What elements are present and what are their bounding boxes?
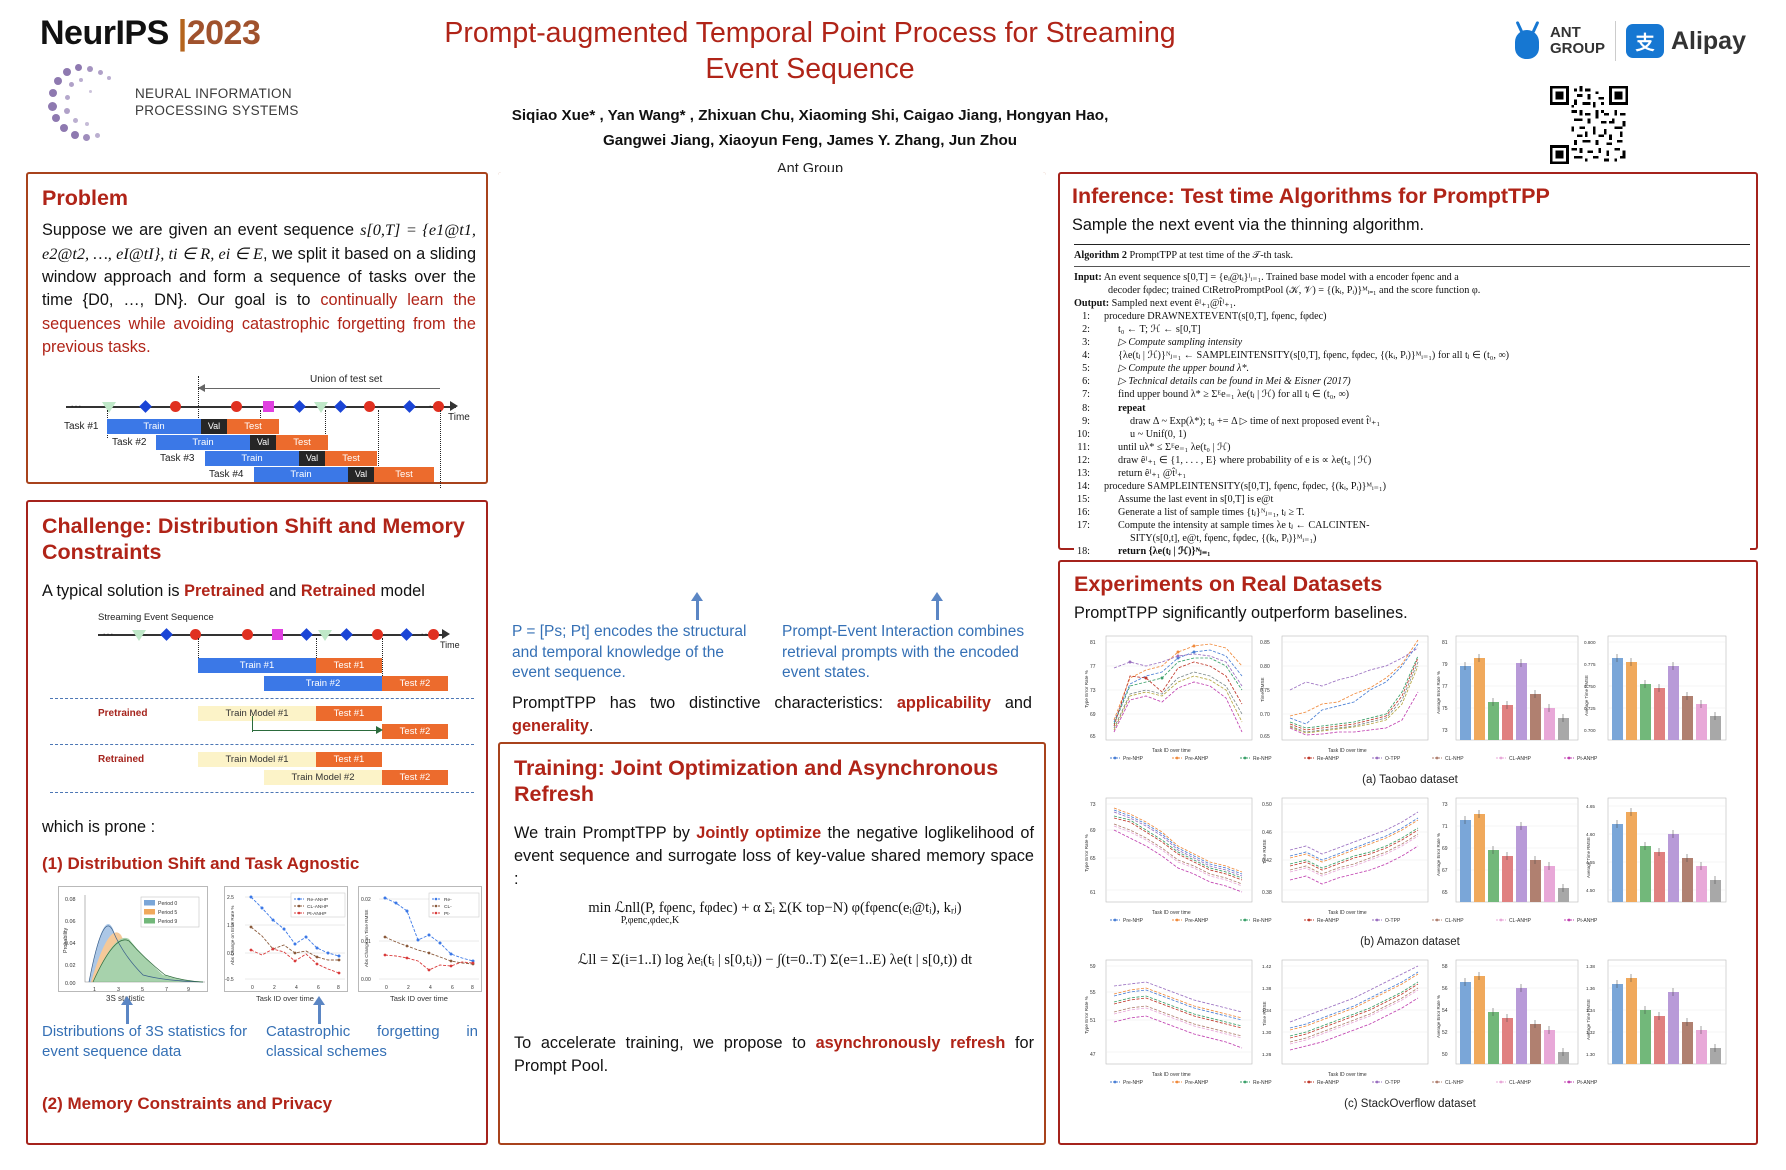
svg-text:73: 73	[1442, 802, 1448, 808]
kd-cap-arrow-right-head	[931, 592, 943, 601]
task1-train-bar: Train	[107, 419, 201, 434]
generality-term: generality	[512, 717, 589, 735]
svg-text:Re-ANHP: Re-ANHP	[1317, 1080, 1340, 1086]
algo-line: 6:▷ Technical details can be found in Me…	[1074, 375, 1750, 388]
event-label-eiti: eᵢ@tᵢ	[960, 314, 978, 324]
svg-text:Average Time RMSE: Average Time RMSE	[1586, 999, 1591, 1040]
svg-text:Pre-NHP: Pre-NHP	[1123, 1080, 1144, 1086]
right-stack-arrows	[870, 398, 1030, 508]
svg-text:Period 5: Period 5	[158, 910, 177, 916]
keyidea-closing-c: .	[589, 717, 594, 735]
svg-text:Task ID over time: Task ID over time	[1152, 910, 1191, 916]
label-retrieval-prompt-pool: Retrieval Prompt Pool	[812, 272, 963, 293]
algo-line: 17:Compute the intensity at sample times…	[1074, 519, 1750, 532]
algo-line-no: 5:	[1074, 362, 1096, 375]
cap-right-w1: Catastrophic	[266, 1023, 350, 1040]
chart-3s-svg: 0.080.06 0.040.020.00 135 79 Period	[59, 887, 209, 993]
keyidea-equation-left: P = [P₁, ..., Pₘ] Pᵢ ∈ ℝ^(Lp×D)	[520, 230, 750, 247]
svg-text:81: 81	[1090, 640, 1096, 646]
task-label-1: Task #1	[64, 421, 98, 432]
algo-line-text: repeat	[1096, 402, 1750, 415]
async-refresh-icon: ↻	[810, 450, 827, 475]
svg-text:61: 61	[1090, 890, 1096, 896]
poster-root: NeurIPS |2023	[0, 0, 1786, 1170]
svg-text:CL-NHP: CL-NHP	[1445, 756, 1464, 762]
svg-text:73: 73	[1090, 802, 1096, 808]
algo-line-no	[1074, 532, 1096, 545]
svg-text:0.65: 0.65	[1260, 734, 1270, 740]
svg-text:Time RMSE: Time RMSE	[1262, 839, 1267, 864]
task4-test-bar: Test	[374, 467, 434, 482]
algo-line: 1:procedure DRAWNEXTEVENT(s[0,T], fφenc,…	[1074, 310, 1750, 323]
task-label-2: Task #2	[112, 437, 146, 448]
svg-text:CL-NHP: CL-NHP	[1445, 918, 1464, 924]
algorithm-input: Input: An event sequence s[0,T] = {eᵢ@tᵢ…	[1074, 269, 1750, 284]
taobao-charts-svg: 8177736965	[1080, 632, 1740, 772]
svg-text:Task ID over time: Task ID over time	[1328, 910, 1367, 916]
svg-text:77: 77	[1090, 664, 1096, 670]
sponsor-logo-row: ANT GROUP 支 Alipay	[1446, 14, 1746, 68]
score-function-label: Score Function	[544, 476, 605, 486]
algorithm-title-bold: Algorithm 2	[1074, 250, 1127, 261]
svg-text:73: 73	[1090, 688, 1096, 694]
problem-heading: Problem	[42, 186, 128, 212]
taobao-caption: (a) Taobao dataset	[1060, 774, 1760, 786]
svg-text:1.42: 1.42	[1262, 964, 1272, 970]
svg-text:8: 8	[337, 985, 340, 991]
chart-3s-distribution: 0.080.06 0.040.020.00 135 79 Period	[58, 886, 208, 992]
seq-trailing-dots: · · ·	[1012, 328, 1034, 358]
inference-panel: Inference: Test time Algorithms for Prom…	[1058, 172, 1758, 550]
svg-text:O-TPP: O-TPP	[1385, 918, 1401, 924]
svg-text:Pre-NHP: Pre-NHP	[1123, 756, 1144, 762]
keyidea-heading: Key Idea: Using prompt-augmented CL fram…	[512, 186, 1024, 212]
training-closing-a: To accelerate training, we propose to	[514, 1034, 816, 1052]
task1-val-bar: Val	[201, 419, 227, 434]
inference-heading: Inference: Test time Algorithms for Prom…	[1072, 184, 1550, 210]
pool-label-line1: Continuous-time	[674, 522, 794, 532]
retrained-term: Retrained	[301, 582, 376, 600]
keyidea-caption-left: P = [Ps; Pt] encodes the structural and …	[512, 622, 762, 684]
svg-text:50: 50	[1442, 1052, 1448, 1058]
problem-panel: Problem Suppose we are given an event se…	[26, 172, 488, 484]
svg-text:O-TPP: O-TPP	[1385, 1080, 1401, 1086]
cap-right-w4: classical schemes	[266, 1043, 387, 1060]
pretrained-test-2: Test #2	[382, 724, 448, 739]
algo-line-text: t₀ ← T; ℋ ← s[0,T]	[1096, 323, 1750, 336]
algo-line-text: SITY(s[0,t], e@t, fφenc, fφdec, {(kᵢ, Pᵢ…	[1096, 532, 1750, 545]
pretrained-row-label: Pretrained	[98, 708, 147, 719]
keyidea-caption-right: Prompt-Event Interaction combines retrie…	[782, 622, 1032, 684]
svg-text:2: 2	[273, 985, 276, 991]
pool-label-line2: Retrieval Prompt Pool	[674, 534, 794, 544]
svg-text:4.60: 4.60	[1586, 832, 1595, 837]
svg-text:3: 3	[117, 987, 120, 993]
algo-input-text-1: An event sequence s[0,T] = {eᵢ@tᵢ}ᴵᵢ₌₁. …	[1104, 272, 1459, 283]
challenge-item-2: (2) Memory Constraints and Privacy	[42, 1094, 332, 1114]
neurips-name: NeurIPS	[40, 14, 169, 52]
event-label-eim1: eᵢ₋₁@tᵢ₋₁	[902, 314, 935, 325]
svg-text:Average Error Rate %: Average Error Rate %	[1436, 671, 1441, 714]
svg-text:71: 71	[1442, 824, 1448, 830]
experiments-row-amazon: 73696561	[1080, 794, 1740, 934]
score-function-net	[552, 412, 606, 472]
chart-abs-change-error: 2.51.50.5-0.5 024 68 Re-A	[224, 886, 348, 992]
nips-logo-text: NEURAL INFORMATION PROCESSING SYSTEMS	[135, 86, 299, 120]
svg-text:Pt-ANHP: Pt-ANHP	[1577, 756, 1598, 762]
nips-logo-line2: PROCESSING SYSTEMS	[135, 103, 299, 120]
pretrain-retrain-figure: Streaming Event Sequence … … Time Train …	[50, 612, 474, 792]
title-block: Prompt-augmented Temporal Point Process …	[430, 16, 1190, 177]
challenge-item-1: (1) Distribution Shift and Task Agnostic	[42, 854, 359, 874]
training-eq1-body: min ℒnll(P, fφenc, fφdec) + α Σᵢ Σ(K top…	[588, 900, 961, 916]
algo-line-text: u ~ Unif(0, 1)	[1096, 428, 1750, 441]
algo-line-no: 7:	[1074, 388, 1096, 401]
alipay-logo: 支 Alipay	[1626, 24, 1746, 58]
algo-line-no: 15:	[1074, 493, 1096, 506]
chart-abs-rmse-xlabel: Task ID over time	[390, 994, 448, 1003]
svg-text:0: 0	[251, 985, 254, 991]
problem-text: Suppose we are given an event sequence s…	[42, 218, 476, 359]
svg-text:Abs Change on Error Rate %: Abs Change on Error Rate %	[230, 906, 235, 966]
retrained-test-2: Test #2	[382, 770, 448, 785]
training-text-a: We train PromptTPP by	[514, 824, 696, 842]
caption-arrow-right-head	[313, 996, 325, 1005]
task2-train-bar: Train	[156, 435, 250, 450]
svg-text:Re-NHP: Re-NHP	[1253, 918, 1272, 924]
svg-text:CL-ANHP: CL-ANHP	[307, 904, 328, 910]
retrained-row-label: Retrained	[98, 754, 144, 765]
event-label-e1t1: e₁@t₁	[714, 314, 735, 324]
leading-dots-1: …	[70, 396, 82, 410]
prompt-token-label: Prompt Token	[560, 511, 609, 520]
algo-line: 12:draw êᴵ₊₁ ∈ {1, . . . , E} where prob…	[1074, 454, 1750, 467]
svg-text:4.65: 4.65	[1586, 804, 1595, 809]
svg-text:0.00: 0.00	[65, 981, 76, 987]
algo-line-no: 10:	[1074, 428, 1096, 441]
applicability-term: applicability	[897, 694, 991, 712]
svg-text:Pre-ANHP: Pre-ANHP	[1185, 756, 1209, 762]
input-to-score-curve	[574, 356, 754, 416]
ant-line-2: GROUP	[1550, 41, 1605, 57]
ant-line-1: ANT	[1550, 25, 1605, 41]
svg-text:2.5: 2.5	[227, 895, 234, 901]
algo-line-no: 4:	[1074, 349, 1096, 362]
keyidea-equation-right: K(top−N) = argmin Σ φ(hᵢ, kᵣⱼ)	[790, 224, 1030, 240]
neurips-separator: |	[178, 14, 187, 52]
experiments-heading: Experiments on Real Datasets	[1074, 572, 1382, 598]
algo-line-text: Generate a list of sample times {tⱼ}ᴺⱼ₌₁…	[1096, 506, 1750, 519]
label-from-prompt-to-pool: From Prompt to Prompt Pool	[514, 272, 711, 293]
seq-leading-dots: · · ·	[536, 328, 566, 343]
svg-text:55: 55	[1090, 990, 1096, 996]
algo-output-label: Output:	[1074, 298, 1109, 309]
nips-logo-line1: NEURAL INFORMATION	[135, 86, 299, 103]
svg-text:Task ID over time: Task ID over time	[1152, 748, 1191, 754]
algo-line-text: find upper bound λ* ≥ Σᴱe₌₁ λe(tⱼ | ℋ) f…	[1096, 388, 1750, 401]
algo-line-no: 3:	[1074, 336, 1096, 349]
svg-text:CL-: CL-	[444, 904, 452, 910]
algo-line: 14:procedure SAMPLEINTENSITY(s[0,T], fφe…	[1074, 480, 1750, 493]
svg-text:1.38: 1.38	[1586, 964, 1595, 969]
chart-abs-error-svg: 2.51.50.5-0.5 024 68 Re-A	[225, 887, 349, 993]
challenge-lead: A typical solution is Pretrained and Ret…	[42, 580, 480, 603]
svg-text:59: 59	[1090, 964, 1096, 970]
nips-logo: NEURAL INFORMATION PROCESSING SYSTEMS	[45, 62, 299, 144]
svg-text:0.775: 0.775	[1584, 662, 1596, 667]
svg-text:Task ID over time: Task ID over time	[1328, 1072, 1367, 1078]
svg-text:Re-ANHP: Re-ANHP	[307, 897, 328, 903]
svg-text:65: 65	[1442, 890, 1448, 896]
svg-text:0: 0	[385, 985, 388, 991]
algo-line-text: Assume the last event in s[0,T] is e@t	[1096, 493, 1750, 506]
author-list: Siqiao Xue* , Yan Wang* , Zhixuan Chu, X…	[430, 104, 1190, 153]
svg-text:4: 4	[295, 985, 298, 991]
prompt-key-label: Prompt Key	[560, 497, 602, 506]
svg-text:CL-ANHP: CL-ANHP	[1509, 1080, 1532, 1086]
svg-text:Average Time RMSE: Average Time RMSE	[1586, 837, 1591, 878]
stream-test1-bar: Test #1	[316, 658, 382, 673]
svg-text:Pre-NHP: Pre-NHP	[1123, 918, 1144, 924]
leading-dots-2: …	[102, 624, 114, 638]
svg-text:47: 47	[1090, 1052, 1096, 1058]
task2-test-bar: Test	[276, 435, 328, 450]
svg-text:4.50: 4.50	[1586, 888, 1595, 893]
svg-text:69: 69	[1442, 846, 1448, 852]
algo-line: 4:{λe(tⱼ | ℋ)}ᴺⱼ₌₁ ← SAMPLEINTENSITY(s[0…	[1074, 349, 1750, 362]
time-axis-label-2: Time	[440, 640, 460, 650]
algo-line: 5:▷ Compute the upper bound λ*.	[1074, 362, 1750, 375]
algo-line-text: ▷ Compute the upper bound λ*.	[1096, 362, 1750, 375]
algo-line-text: draw êᴵ₊₁ ∈ {1, . . . , E} where probabi…	[1096, 454, 1750, 467]
svg-text:CL-ANHP: CL-ANHP	[1509, 918, 1532, 924]
algorithm-block: Algorithm 2 PromptTPP at test time of th…	[1074, 242, 1750, 563]
algo-line-text: return êᴵ₊₁ @t̂ᴵ₊₁	[1096, 467, 1750, 480]
svg-text:4: 4	[429, 985, 432, 991]
alipay-text: Alipay	[1671, 27, 1746, 56]
algo-line-no: 9:	[1074, 415, 1096, 428]
svg-text:-0.5: -0.5	[225, 977, 234, 983]
task-split-figure: Union of test set … … Time	[48, 372, 472, 478]
algo-line: 2:t₀ ← T; ℋ ← s[0,T]	[1074, 323, 1750, 336]
problem-text-end: .	[146, 338, 151, 356]
svg-text:1.30: 1.30	[1586, 1052, 1595, 1057]
caption-catastrophic-forgetting: Catastrophic forgetting in classical sch…	[266, 1022, 478, 1062]
ant-group-text: ANT GROUP	[1550, 25, 1605, 57]
svg-text:75: 75	[1442, 706, 1448, 712]
chart-abs-rmse-svg: 0.020.010.00 024 68 Re- CL	[359, 887, 483, 993]
task-label-4: Task #4	[209, 469, 243, 480]
algo-line-text: ▷ Technical details can be found in Mei …	[1096, 375, 1750, 388]
svg-text:Probability: Probability	[63, 928, 69, 953]
algo-input-text-2: decoder fφdec; trained CtRetroPromptPool…	[1108, 285, 1480, 296]
algo-line: 11:until uλ* ≤ Σᴱe₌₁ λe(t₀ | ℋ)	[1074, 441, 1750, 454]
neurips-year: 2023	[187, 14, 261, 52]
training-text: We train PromptTPP by Jointly optimize t…	[514, 822, 1034, 891]
algo-line: 13:return êᴵ₊₁ @t̂ᴵ₊₁	[1074, 467, 1750, 480]
caption-3s-distributions: Distributions of 3S statistics for event…	[42, 1022, 258, 1062]
task3-test-bar: Test	[325, 451, 377, 466]
retrained-test-1: Test #1	[316, 752, 382, 767]
svg-text:Type Error Rate %: Type Error Rate %	[1084, 670, 1089, 708]
algorithm-output: Output: Sampled next event êᴵ₊₁@t̂ᴵ₊₁.	[1074, 297, 1750, 310]
sponsor-logos: ANT GROUP 支 Alipay	[1446, 14, 1746, 68]
alipay-mark-icon: 支	[1626, 24, 1664, 58]
chart-abs-change-rmse: 0.020.010.00 024 68 Re- CL	[358, 886, 482, 992]
inference-subtitle: Sample the next event via the thinning a…	[1072, 214, 1752, 237]
algo-input-text-2-row: decoder fφdec; trained CtRetroPromptPool…	[1074, 284, 1750, 297]
algo-line-no: 2:	[1074, 323, 1096, 336]
streaming-seq-label: Streaming Event Sequence	[98, 612, 214, 623]
author-line-1: Siqiao Xue* , Yan Wang* , Zhixuan Chu, X…	[430, 104, 1190, 128]
algo-line: SITY(s[0,t], e@t, fφenc, fφdec, {(kᵢ, Pᵢ…	[1074, 532, 1750, 545]
caption-arrow-left-head	[121, 996, 133, 1005]
logo-divider	[1615, 21, 1616, 61]
svg-text:9: 9	[187, 987, 190, 993]
svg-text:1: 1	[93, 987, 96, 993]
svg-text:67: 67	[1442, 868, 1448, 874]
svg-text:1.30: 1.30	[1262, 1030, 1272, 1036]
svg-text:0.46: 0.46	[1262, 830, 1272, 836]
svg-text:CL-NHP: CL-NHP	[1445, 1080, 1464, 1086]
svg-text:Re-: Re-	[444, 897, 452, 903]
svg-text:54: 54	[1442, 1008, 1448, 1014]
experiments-row-taobao: 8177736965	[1080, 632, 1740, 772]
pretrained-test-1: Test #1	[316, 706, 382, 721]
keyidea-closing-a: PromptTPP has two distinctive characteri…	[512, 694, 897, 712]
svg-text:0.02: 0.02	[361, 897, 371, 903]
svg-text:8: 8	[471, 985, 474, 991]
algo-line-text: return {λe(tⱼ | ℋ)}ᴺⱼ₌₁	[1096, 545, 1750, 558]
svg-text:Type Error Rate %: Type Error Rate %	[1084, 996, 1089, 1034]
svg-text:58: 58	[1442, 964, 1448, 970]
svg-text:Re-ANHP: Re-ANHP	[1317, 756, 1340, 762]
algo-line: 18:return {λe(tⱼ | ℋ)}ᴺⱼ₌₁	[1074, 545, 1750, 558]
experiments-subtitle: PromptTPP significantly outperform basel…	[1074, 602, 1408, 625]
svg-text:0.800: 0.800	[1584, 640, 1596, 645]
task4-train-bar: Train	[254, 467, 348, 482]
algo-line-text: procedure SAMPLEINTENSITY(s[0,T], fφenc,…	[1096, 480, 1750, 493]
svg-text:Re-NHP: Re-NHP	[1253, 1080, 1272, 1086]
svg-text:5: 5	[141, 987, 144, 993]
challenge-lead-a: A typical solution is	[42, 582, 184, 600]
keyidea-closing-b: and	[991, 694, 1032, 712]
svg-text:77: 77	[1442, 684, 1448, 690]
svg-text:0.02: 0.02	[65, 963, 76, 969]
algorithm-title-rest: PromptTPP at test time of the 𝒯-th task.	[1129, 250, 1293, 261]
svg-text:0.06: 0.06	[65, 919, 76, 925]
which-is-prone-text: which is prone :	[42, 816, 155, 839]
svg-text:2: 2	[407, 985, 410, 991]
prompt-key-icon: ☆	[542, 496, 552, 509]
neurips-wordmark: NeurIPS |2023	[40, 14, 370, 53]
training-equation-2: ℒll = Σ(i=1..I) log λeᵢ(tᵢ | s[0,tᵢ)) − …	[520, 952, 1030, 969]
ant-group-logo: ANT GROUP	[1510, 21, 1605, 61]
author-line-2: Gangwei Jiang, Xiaoyun Feng, James Y. Zh…	[430, 129, 1190, 153]
svg-text:0.08: 0.08	[65, 897, 76, 903]
jointly-optimize-term: Jointly optimize	[696, 824, 821, 842]
algo-line: 7:find upper bound λ* ≥ Σᴱe₌₁ λe(tⱼ | ℋ)…	[1074, 388, 1750, 401]
algo-line: 9:draw Δ ~ Exp(λ*); t₀ += Δ ▷ time of ne…	[1074, 415, 1750, 428]
svg-text:0.70: 0.70	[1260, 712, 1270, 718]
training-panel: Training: Joint Optimization and Asynchr…	[498, 742, 1046, 1145]
algo-line-text: draw Δ ~ Exp(λ*); t₀ += Δ ▷ time of next…	[1096, 415, 1750, 428]
kd-cap-arrow-right-stem	[936, 598, 939, 620]
svg-text:6: 6	[317, 985, 320, 991]
stackoverflow-charts-svg: 59555147	[1080, 956, 1740, 1096]
svg-text:52: 52	[1442, 1030, 1448, 1036]
svg-text:56: 56	[1442, 986, 1448, 992]
retrained-train-model-2: Train Model #2	[264, 770, 382, 785]
algo-output-text: Sampled next event êᴵ₊₁@t̂ᴵ₊₁.	[1112, 298, 1236, 309]
svg-text:81: 81	[1442, 640, 1448, 646]
page-title: Prompt-augmented Temporal Point Process …	[430, 16, 1190, 87]
neurips-branding: NeurIPS |2023	[40, 14, 370, 53]
algo-line: 10:u ~ Unif(0, 1)	[1074, 428, 1750, 441]
svg-text:Task ID over time: Task ID over time	[1328, 748, 1367, 754]
svg-text:65: 65	[1090, 856, 1096, 862]
svg-text:69: 69	[1090, 712, 1096, 718]
training-closing: To accelerate training, we propose to as…	[514, 1032, 1034, 1078]
async-refresh-term: asynchronously refresh	[816, 1034, 1006, 1052]
union-of-test-set-label: Union of test set	[310, 374, 382, 385]
algo-line-no: 8:	[1074, 402, 1096, 415]
problem-text-a: Suppose we are given an event sequence	[42, 221, 354, 239]
algo-line-no: 11:	[1074, 441, 1096, 454]
challenge-lead-c: model	[376, 582, 425, 600]
amazon-charts-svg: 73696561	[1080, 794, 1740, 934]
svg-text:Period 9: Period 9	[158, 919, 177, 925]
algo-line-no: 12:	[1074, 454, 1096, 467]
svg-text:79: 79	[1442, 662, 1448, 668]
experiments-row-stackoverflow: 59555147	[1080, 956, 1740, 1096]
svg-text:65: 65	[1090, 734, 1096, 740]
challenge-lead-b: and	[265, 582, 301, 600]
task3-val-bar: Val	[299, 451, 325, 466]
chart-abs-error-xlabel: Task ID over time	[256, 994, 314, 1003]
pretrained-train-model-1: Train Model #1	[198, 706, 316, 721]
pretrained-term: Pretrained	[184, 582, 265, 600]
event-label-e2t2: e₂@t₂	[754, 314, 776, 324]
svg-text:0.700: 0.700	[1584, 728, 1596, 733]
svg-text:O-TPP: O-TPP	[1385, 756, 1401, 762]
svg-text:0.38: 0.38	[1262, 890, 1272, 896]
algo-line: 15:Assume the last event in s[0,T] is e@…	[1074, 493, 1750, 506]
svg-text:Average Error Rate %: Average Error Rate %	[1436, 833, 1441, 876]
svg-text:0.80: 0.80	[1260, 664, 1270, 670]
cap-right-w3: in	[466, 1023, 478, 1040]
svg-text:6: 6	[451, 985, 454, 991]
amazon-caption: (b) Amazon dataset	[1060, 936, 1760, 948]
svg-text:7: 7	[165, 987, 168, 993]
svg-text:1.26: 1.26	[1262, 1052, 1272, 1058]
challenge-panel: Challenge: Distribution Shift and Memory…	[26, 500, 488, 1145]
algo-line-text: procedure DRAWNEXTEVENT(s[0,T], fφenc, f…	[1096, 310, 1750, 323]
time-axis-label-1: Time	[448, 412, 470, 423]
cap-right-w2: forgetting	[377, 1023, 440, 1040]
poster-header: NeurIPS |2023	[0, 0, 1786, 185]
kv-pointer-arrow	[750, 482, 830, 522]
algo-line: 3:▷ Compute sampling intensity	[1074, 336, 1750, 349]
svg-text:0.85: 0.85	[1260, 640, 1270, 646]
svg-text:Re-NHP: Re-NHP	[1253, 756, 1272, 762]
kd-cap-arrow-left-head	[691, 592, 703, 601]
svg-text:Task ID over time: Task ID over time	[1152, 1072, 1191, 1078]
training-eq1-subscript: P,φenc,φdec,Κ	[270, 915, 1030, 926]
algo-input-label: Input:	[1074, 272, 1102, 283]
kd-cap-arrow-left-stem	[696, 598, 699, 620]
svg-text:Re-ANHP: Re-ANHP	[1317, 918, 1340, 924]
